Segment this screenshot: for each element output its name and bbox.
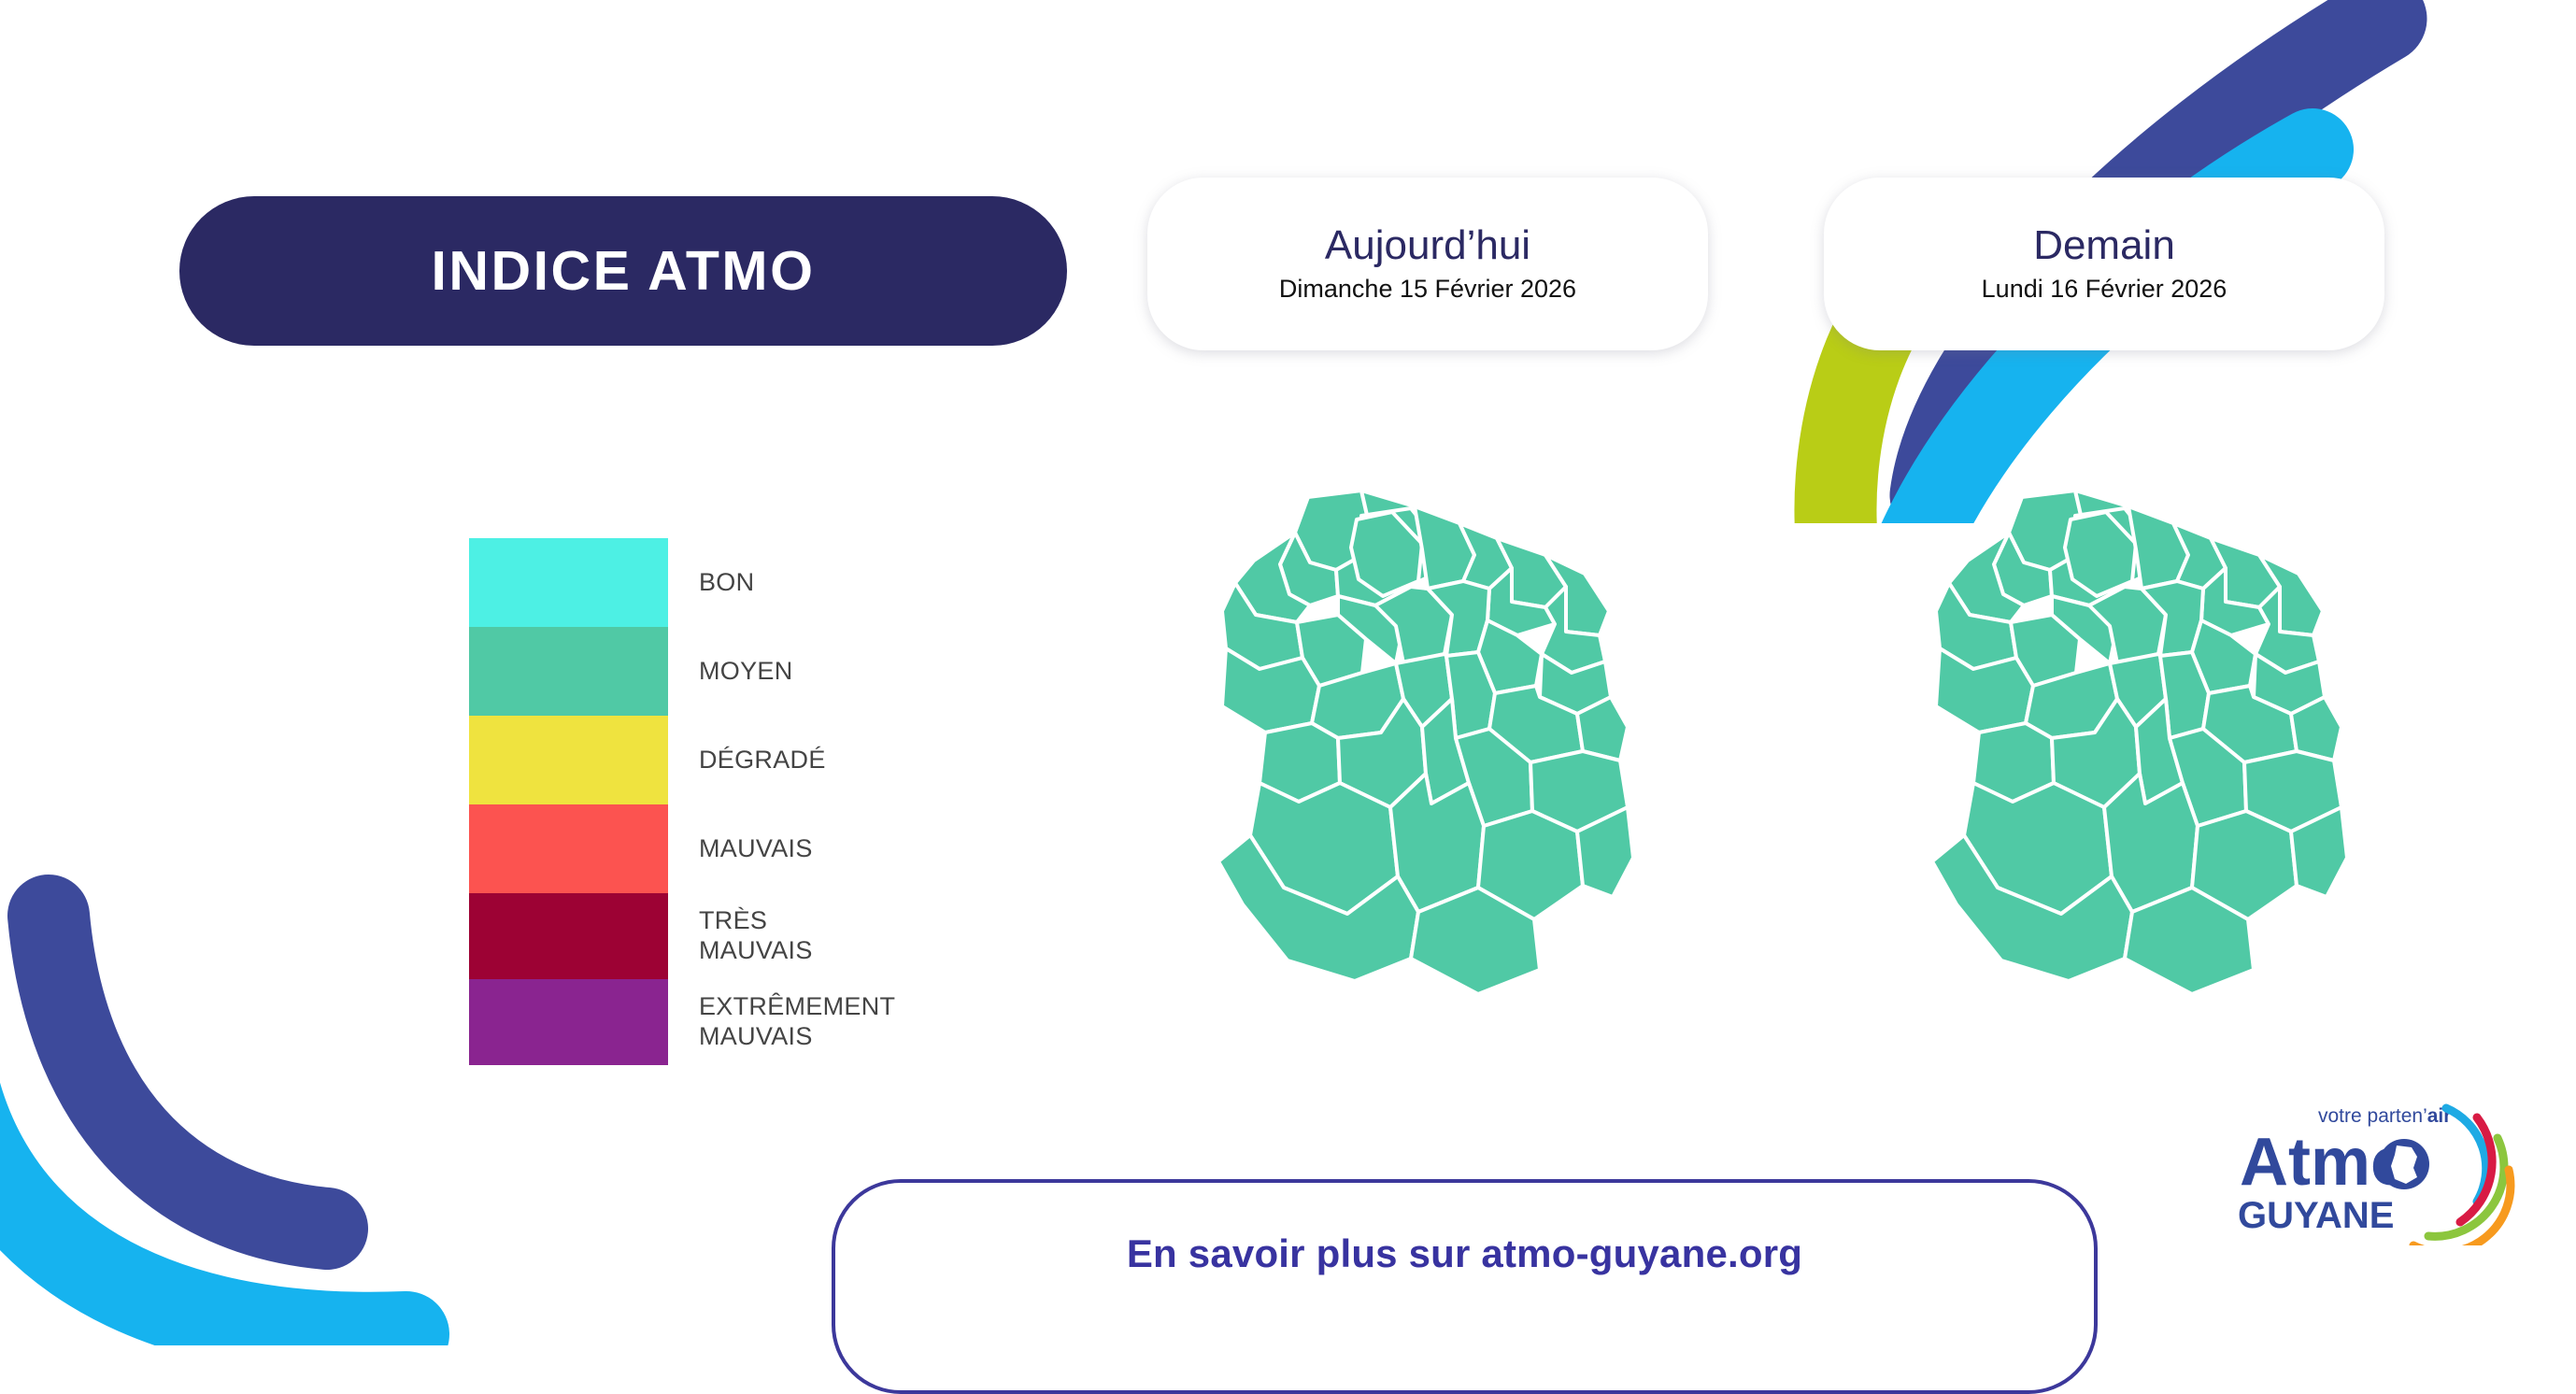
legend-swatch-mauvais: [469, 804, 668, 893]
guyane-map-tomorrow-svg: [1912, 465, 2370, 1026]
legend-label-moyen: MOYEN: [699, 657, 793, 687]
tab-today[interactable]: Aujourd’hui Dimanche 15 Février 2026: [1147, 178, 1708, 350]
guyane-map-today-svg: [1198, 465, 1656, 1026]
swoosh-dark-blue-arc-icon: [49, 916, 327, 1229]
legend-item-bon: BON: [469, 538, 895, 627]
legend-swatch-extremement-mauvais: [469, 979, 668, 1065]
legend-item-degrade: DÉGRADÉ: [469, 716, 895, 804]
more-info-link[interactable]: En savoir plus sur atmo-guyane.org: [1127, 1231, 1802, 1276]
legend-label-degrade: DÉGRADÉ: [699, 746, 826, 775]
legend-label-mauvais: MAUVAIS: [699, 834, 813, 864]
legend-swatch-bon: [469, 538, 668, 627]
more-info-box[interactable]: En savoir plus sur atmo-guyane.org: [832, 1179, 2098, 1394]
page-title: INDICE ATMO: [432, 239, 816, 303]
legend-label-bon: BON: [699, 568, 754, 598]
map-tomorrow[interactable]: [1912, 465, 2370, 1026]
legend-swatch-tres-mauvais: [469, 893, 668, 979]
logo-region: GUYANE: [2238, 1195, 2394, 1236]
map-today[interactable]: [1198, 465, 1656, 1026]
page-title-badge: INDICE ATMO: [179, 196, 1067, 346]
atmo-guyane-logo: votre parten’air Atmo GUYANE: [2236, 1091, 2563, 1245]
tab-today-date: Dimanche 15 Février 2026: [1279, 275, 1576, 304]
logo-tagline: votre parten’air: [2318, 1105, 2451, 1127]
tab-today-label: Aujourd’hui: [1325, 224, 1530, 267]
tab-tomorrow-date: Lundi 16 Février 2026: [1982, 275, 2227, 304]
logo-svg: votre parten’air Atmo GUYANE: [2236, 1091, 2563, 1245]
tab-tomorrow-label: Demain: [2033, 224, 2175, 267]
tab-tomorrow[interactable]: Demain Lundi 16 Février 2026: [1824, 178, 2384, 350]
legend-label-extremement-mauvais: EXTRÊMEMENT MAUVAIS: [699, 992, 895, 1052]
legend-label-tres-mauvais: TRÈS MAUVAIS: [699, 906, 813, 966]
legend-item-mauvais: MAUVAIS: [469, 804, 895, 893]
logo-tagline-prefix: votre parten: [2318, 1105, 2423, 1127]
legend-swatch-degrade: [469, 716, 668, 804]
swoosh-light-blue-arc-icon: [0, 1023, 406, 1335]
legend-item-extremement-mauvais: EXTRÊMEMENT MAUVAIS: [469, 979, 895, 1065]
legend-item-moyen: MOYEN: [469, 627, 895, 716]
legend-swatch-moyen: [469, 627, 668, 716]
air-quality-legend: BON MOYEN DÉGRADÉ MAUVAIS TRÈS MAUVAIS E…: [469, 538, 895, 1065]
legend-item-tres-mauvais: TRÈS MAUVAIS: [469, 893, 895, 979]
